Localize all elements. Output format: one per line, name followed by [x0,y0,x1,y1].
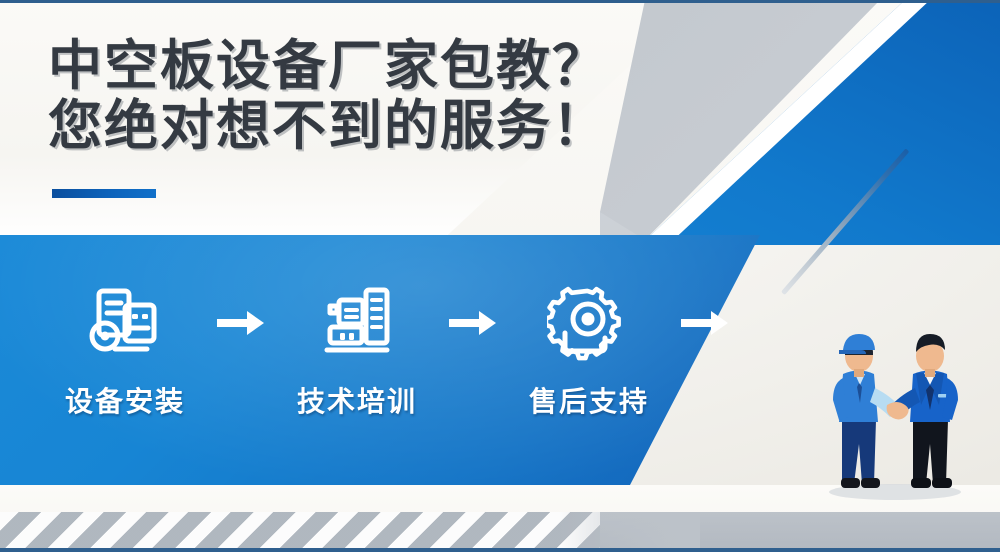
headline-line-1: 中空板设备厂家包教？ [48,36,668,96]
step-label: 设备安装 [65,380,185,420]
headline-accent-bar [52,189,156,198]
step-label: 技术培训 [297,380,417,420]
bottom-diagonal-stripes [0,512,1000,552]
service-steps-row: 设备安装 [0,280,790,440]
headline-line-2: 您绝对想不到的服务！ [48,96,668,156]
bottom-rule [0,548,1000,552]
step-after-sales-support[interactable]: 售后支持 [504,280,674,420]
handshake-illustration [795,322,995,507]
step-technical-training[interactable]: 技术培训 [272,280,442,420]
arrow-right-icon [442,280,504,366]
promo-banner: 中空板设备厂家包教？ 您绝对想不到的服务！ [0,0,1000,552]
bottom-stripe-fade [560,512,700,552]
top-rule [0,0,1000,3]
server-equipment-icon [82,280,168,366]
gear-support-icon [546,280,632,366]
arrow-right-icon [210,280,272,366]
arrow-right-icon [674,280,736,366]
factory-machine-icon [314,280,400,366]
step-equipment-installation[interactable]: 设备安装 [40,280,210,420]
businessman-in-suit [887,334,958,488]
step-label: 售后支持 [529,380,649,420]
headline-block: 中空板设备厂家包教？ 您绝对想不到的服务！ [48,36,668,156]
